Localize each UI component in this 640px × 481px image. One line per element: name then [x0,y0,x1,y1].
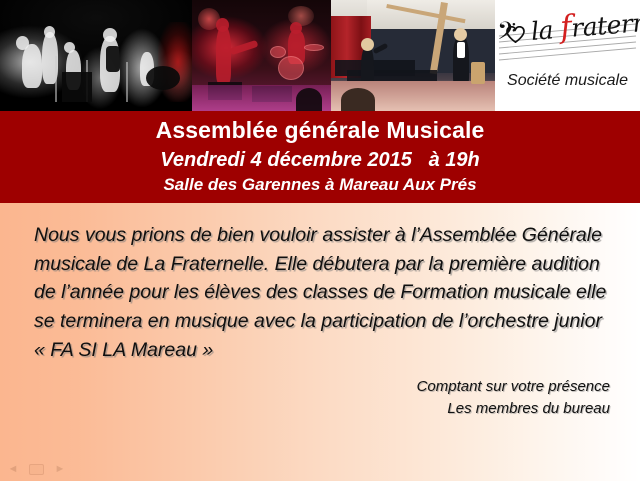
event-date: Vendredi 4 décembre 2015 à 19h [0,144,640,172]
next-slide-icon[interactable]: ► [53,464,67,475]
keyboard-rig [62,72,92,102]
invitation-paragraph: Nous vous prions de bien vouloir assiste… [34,221,610,364]
photo-orchestra-concert-hall [331,0,495,111]
logo-wordmark-rest: raternelle [570,4,640,42]
conductor-head [361,38,374,51]
logo-subtitle: Société musicale [495,72,640,90]
photo-band-black-and-white [0,0,192,111]
logo-wordmark-prefix: la [530,15,562,46]
previous-slide-icon[interactable]: ◄ [6,464,20,475]
mic-stand [126,62,128,102]
drummer-head [290,22,302,34]
closing-line-1: Comptant sur votre présence [240,376,610,398]
photo-strip: 𝄢 la fraternelle Société musicale [0,0,640,111]
slideshow-menu-icon[interactable] [29,464,44,475]
presentation-slide: 𝄢 la fraternelle Société musicale Assemb… [0,0,640,481]
cymbal [304,44,324,51]
heart-icon [506,26,525,43]
singer-head [103,28,117,42]
musician-head [64,42,75,53]
slideshow-nav-controls[interactable]: ◄ ► [6,464,67,475]
event-venue: Salle des Garennes à Mareau Aux Prés [0,172,640,195]
closing-line-2: Les membres du bureau [240,398,610,420]
fraternelle-logo: 𝄢 la fraternelle [497,6,638,68]
bass-drum [278,56,304,80]
guitarist-figure [216,26,231,84]
musician-head [16,36,29,50]
singer-head [454,28,467,41]
mic-stand [55,56,57,102]
stage-glow [158,22,192,102]
event-title: Assemblée générale Musicale [0,111,640,144]
guitarist-head [216,18,229,32]
audience-silhouette [296,88,322,111]
singer-shirt [457,42,465,58]
event-banner: Assemblée générale Musicale Vendredi 4 d… [0,111,640,203]
musician-figure [22,44,42,88]
logo-block: 𝄢 la fraternelle Société musicale [495,0,640,111]
musician-head [44,26,55,38]
singer-shirt [106,46,120,72]
photo-rock-band-red-lights [192,0,331,111]
closing-block: Comptant sur votre présence Les membres … [240,376,610,420]
drum-kit [146,66,180,90]
chair [471,62,485,84]
audience-silhouette [341,88,375,111]
tom-drum [270,46,286,58]
